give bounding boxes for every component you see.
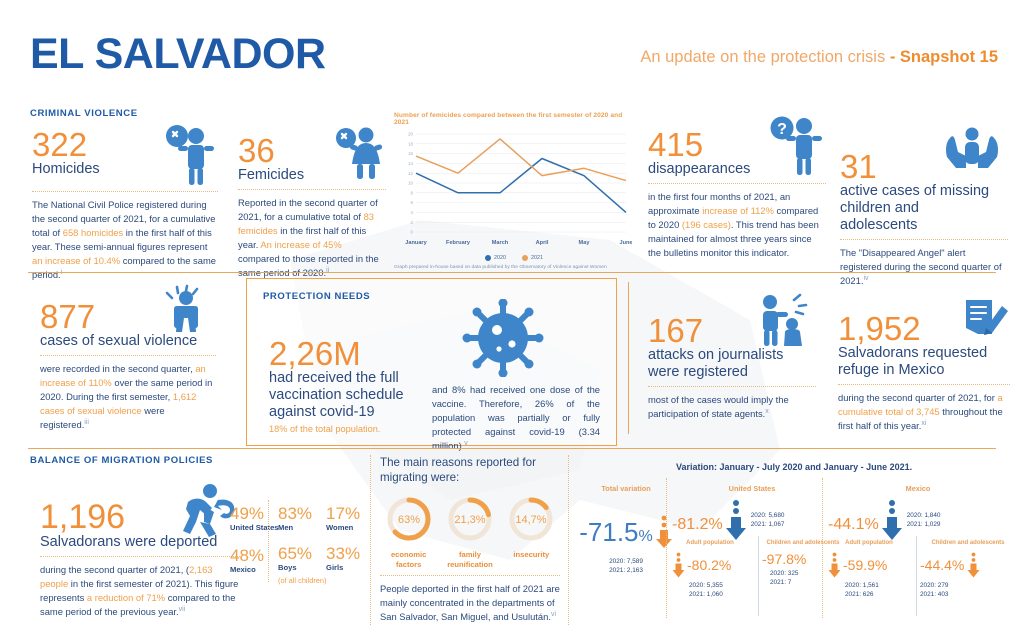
variation-us-adults-years: 2020: 5,355 2021: 1,060 <box>689 581 748 600</box>
svg-text:14,7%: 14,7% <box>516 514 547 526</box>
svg-text:May: May <box>579 240 591 246</box>
divider-dotted <box>380 575 560 576</box>
refuge-description: during the second quarter of 2021, for a… <box>838 391 1010 433</box>
divider-dotted <box>648 386 816 387</box>
migration-reasons-description: People deported in the first half of 202… <box>380 582 560 624</box>
deported-highlight-reduction: a reduction of 71% <box>87 592 165 603</box>
document-pencil-icon <box>958 294 1010 344</box>
svg-text:2: 2 <box>411 220 414 225</box>
page-title: EL SALVADOR <box>30 30 326 79</box>
stat-deported: 1,196 Salvadorans were deported during t… <box>40 486 240 619</box>
section-label-migration: BALANCE OF MIGRATION POLICIES <box>30 455 213 466</box>
svg-text:21,3%: 21,3% <box>454 514 485 526</box>
deport-country-us-label: United States <box>230 524 279 533</box>
variation-us-years: 2020: 5,680 2021: 1,067 <box>751 511 785 530</box>
donut-label: insecurity <box>503 550 560 559</box>
variation-total-years: 2020: 7,589 2021: 2,163 <box>572 557 680 576</box>
variation-us-adults-caption: Adult population <box>672 540 748 546</box>
divider-dotted <box>40 355 216 356</box>
divider-dotted <box>40 556 240 557</box>
section-label-criminal-violence: CRIMINAL VIOLENCE <box>30 108 138 119</box>
sexual-violence-description: were recorded in the second quarter, an … <box>40 362 216 432</box>
stat-missing-children: 31 active cases of missing children and … <box>840 128 1008 288</box>
deport-adults-row: 83% Men 17% Women <box>278 505 370 533</box>
chart-title: Number of femicides compared between the… <box>394 112 634 126</box>
deport-women-label: Women <box>326 524 360 533</box>
journalist-attack-icon <box>754 292 816 348</box>
deport-country-mx-label: Mexico <box>230 566 279 575</box>
divider-dotted <box>838 384 1010 385</box>
footnote-marker: vii <box>179 606 186 613</box>
donut-label: family reunification <box>441 550 498 569</box>
femicides-value: 36 <box>238 134 334 167</box>
svg-text:June: June <box>619 240 632 246</box>
variation-mx-children-years: 2020: 279 2021: 403 <box>920 581 1016 600</box>
person-question-icon: ? <box>764 114 826 176</box>
svg-text:0: 0 <box>411 230 414 235</box>
svg-text:12: 12 <box>408 171 413 176</box>
divider-vertical-solid-2 <box>916 536 917 616</box>
svg-text:March: March <box>492 240 509 246</box>
donut-ring-icon: 21,3% <box>443 495 497 545</box>
hands-holding-child-icon <box>936 124 1008 188</box>
divider-horizontal-bottom <box>28 448 996 449</box>
deport-country-stats: 49% United States 48% Mexico <box>230 505 279 574</box>
footnote-marker: xi <box>921 420 926 427</box>
homicides-highlight-increase: an increase of 10.4% <box>32 255 120 266</box>
variation-mx-adults-years: 2020: 1,561 2021: 626 <box>845 581 910 600</box>
down-arrow-icon <box>725 499 747 541</box>
deport-boys-label: Boys <box>278 564 312 573</box>
footnote-marker: vi <box>551 611 556 618</box>
variation-mx-children-value: -44.4% <box>920 558 964 572</box>
header-subtitle: An update on the protection crisis - Sna… <box>640 48 998 67</box>
svg-text:6: 6 <box>411 200 414 205</box>
donut-chart-3: 14,7%insecurity <box>503 495 560 569</box>
missing-children-label: active cases of missing children and ado… <box>840 183 996 234</box>
down-arrow-icon <box>828 552 841 578</box>
footnote-marker: x <box>765 408 769 415</box>
stat-refuge-mexico: 1,952 Salvadorans requested refuge in Me… <box>838 300 1010 433</box>
variation-us-children-value: -97.8% <box>762 552 806 566</box>
deport-men-label: Men <box>278 524 312 533</box>
header-snapshot-label: - Snapshot 15 <box>890 48 998 66</box>
legend-swatch-icon <box>522 255 528 261</box>
variation-total-value: -71.5% <box>579 519 653 545</box>
missing-children-description: The "Disappeared Angel" alert registered… <box>840 246 1008 288</box>
donut-label: economic factors <box>380 550 437 569</box>
divider-horizontal-top <box>28 272 996 273</box>
divider-vertical-dotted-3 <box>568 455 569 625</box>
vaccination-sub: 18% of the total population. <box>269 424 419 434</box>
variation-total: Total variation -71.5% 2020: 7,589 2021:… <box>572 484 680 576</box>
variation-mx-years: 2020: 1,840 2021: 1,029 <box>907 511 941 530</box>
section-label-protection-needs: PROTECTION NEEDS <box>263 291 370 302</box>
svg-text:63%: 63% <box>398 514 420 526</box>
divider-dotted <box>32 191 218 192</box>
svg-text:?: ? <box>777 121 787 138</box>
femicides-label: Femicides <box>238 167 334 184</box>
deport-women: 17% Women <box>326 505 360 533</box>
header-subtitle-text: An update on the protection crisis <box>640 48 889 66</box>
femicides-highlight-increase: An increase of 45% <box>260 239 341 250</box>
stat-journalists: 167 attacks on journalists were register… <box>648 300 816 421</box>
journalists-description: most of the cases would imply the partic… <box>648 393 816 421</box>
legend-item-2020: 2020 <box>485 255 506 261</box>
donut-ring-icon: 14,7% <box>504 495 558 545</box>
migration-reasons-title: The main reasons reported for migrating … <box>380 455 560 485</box>
deport-country-mx: 48% Mexico <box>230 547 279 575</box>
vaccination-description: and 8% had received one dose of the vacc… <box>432 383 600 453</box>
svg-text:4: 4 <box>411 210 414 215</box>
footnote-marker: iii <box>84 419 89 426</box>
stat-disappearances: 415 disappearances ? in the first four m… <box>648 128 826 260</box>
down-arrow-icon <box>881 499 903 541</box>
femicides-line-chart: Number of femicides compared between the… <box>394 112 634 272</box>
vaccination-value: 2,26M <box>269 337 419 370</box>
footnote-marker: iv <box>863 275 868 282</box>
variation-mx-value: -44.1% <box>828 507 879 533</box>
vaccination-stat: 2,26M had received the full vaccination … <box>269 337 419 434</box>
deport-girls: 33% Girls <box>326 545 360 573</box>
variation-total-head: Total variation <box>572 484 680 493</box>
variation-mx-head: Mexico <box>828 484 1008 493</box>
legend-item-2021: 2021 <box>522 255 543 261</box>
refuge-label: Salvadorans requested refuge in Mexico <box>838 345 1006 379</box>
migration-reasons: The main reasons reported for migrating … <box>380 455 560 625</box>
chart-legend: 2020 2021 <box>394 255 634 261</box>
female-person-icon <box>328 126 386 184</box>
divider-dotted <box>648 183 826 184</box>
divider-vertical-protection <box>628 282 629 434</box>
donut-chart-1: 63%economic factors <box>380 495 437 569</box>
svg-text:20: 20 <box>408 132 413 137</box>
divider-vertical-dotted-2 <box>370 455 371 625</box>
donut-chart-row: 63%economic factors21,3%family reunifica… <box>380 495 560 569</box>
virus-icon <box>461 299 545 377</box>
disappearances-highlight-increase: increase of 112% <box>702 205 774 216</box>
disappearances-description: in the first four months of 2021, an app… <box>648 190 826 260</box>
variation-mx-adults-value: -59.9% <box>843 558 887 572</box>
divider-vertical-dotted-5 <box>822 478 823 618</box>
deport-girls-label: Girls <box>326 564 360 573</box>
variation-mx-adults-caption: Adult population <box>828 540 910 546</box>
variation-mx-children-caption: Children and adolescents <box>920 540 1016 546</box>
protection-needs-panel: PROTECTION NEEDS 2,26M had re <box>246 278 617 446</box>
journalists-label: attacks on journalists were registered <box>648 347 798 381</box>
deport-demographic-stats: 83% Men 17% Women 65% Boys 33% Girls (of… <box>278 505 370 585</box>
variation-us-value: -81.2% <box>672 507 723 533</box>
divider-dotted <box>238 189 386 190</box>
variation-us-adults: Adult population -80.2% 2020: 5,355 2021… <box>672 540 748 600</box>
variation-us-head: United States <box>672 484 832 493</box>
variation-us-adults-value: -80.2% <box>687 558 731 572</box>
variation-mx-children: Children and adolescents -44.4% 2020: 27… <box>920 540 1016 600</box>
svg-text:10: 10 <box>408 181 413 186</box>
homicides-description: The National Civil Police registered dur… <box>32 198 218 282</box>
deport-children-note: (of all children) <box>278 576 370 585</box>
chart-source-note: Graph prepared in-house based on data pu… <box>394 265 626 272</box>
down-arrow-icon <box>672 552 685 578</box>
stat-femicides: 36 Femicides Reported in the second quar… <box>238 134 386 280</box>
down-arrow-icon <box>967 552 980 578</box>
svg-text:18: 18 <box>408 141 413 146</box>
deport-country-us: 49% United States <box>230 505 279 533</box>
disappearances-highlight-cases: (196 cases) <box>682 219 731 230</box>
variation-title: Variation: January - July 2020 and Janua… <box>676 462 912 472</box>
deport-children-row: 65% Boys 33% Girls <box>278 545 370 573</box>
divider-vertical-solid-1 <box>758 536 759 616</box>
svg-text:February: February <box>446 240 471 246</box>
variation-group-united-states: United States -81.2% 2020: 5,680 2021: 1… <box>672 484 832 541</box>
down-arrow-icon <box>655 515 673 549</box>
deport-men: 83% Men <box>278 505 312 533</box>
donut-ring-icon: 63% <box>382 495 436 545</box>
divider-vertical-dotted-1 <box>268 500 269 582</box>
deported-description: during the second quarter of 2021, (2,16… <box>40 563 240 619</box>
stat-sexual-violence: 877 cases of sexual violence were record… <box>40 292 216 432</box>
footnote-marker: v <box>464 440 468 447</box>
homicides-highlight-total: 658 homicides <box>63 227 123 238</box>
svg-text:14: 14 <box>408 161 413 166</box>
svg-text:16: 16 <box>408 151 413 156</box>
femicides-description: Reported in the second quarter of 2021, … <box>238 196 386 280</box>
male-person-icon <box>152 124 218 186</box>
svg-text:8: 8 <box>411 190 414 195</box>
disappearances-label: disappearances <box>648 161 776 178</box>
stat-homicides: 322 Homicides The National Civil Police … <box>32 128 218 282</box>
svg-text:January: January <box>405 240 427 246</box>
variation-group-mexico: Mexico -44.1% 2020: 1,840 2021: 1,029 <box>828 484 1008 541</box>
donut-chart-2: 21,3%family reunification <box>441 495 498 569</box>
homicides-label: Homicides <box>32 161 168 178</box>
vaccination-label: had received the full vaccination schedu… <box>269 370 419 421</box>
svg-text:April: April <box>536 240 549 246</box>
legend-swatch-icon <box>485 255 491 261</box>
distressed-person-icon <box>156 284 216 344</box>
divider-dotted <box>840 239 1008 240</box>
divider-vertical-dotted-4 <box>666 478 667 618</box>
homicides-value: 322 <box>32 128 168 161</box>
variation-mx-adults: Adult population -59.9% 2020: 1,561 2021… <box>828 540 910 600</box>
disappearances-value: 415 <box>648 128 776 161</box>
chart-canvas: 02468101214161820 JanuaryFebruaryMarchAp… <box>394 126 632 254</box>
deport-boys: 65% Boys <box>278 545 312 573</box>
